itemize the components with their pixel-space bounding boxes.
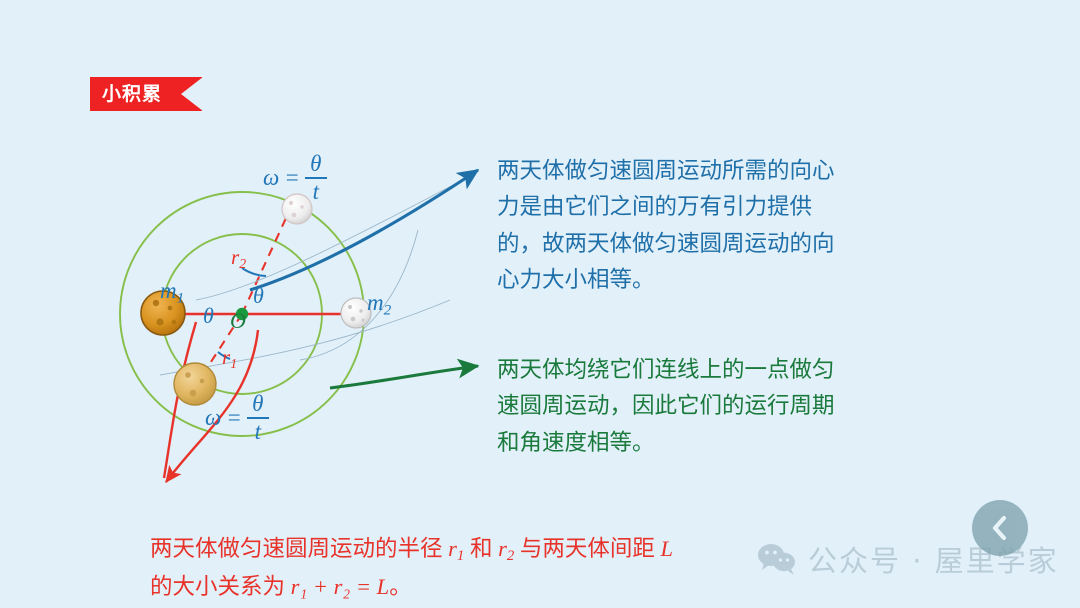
fraction-denominator: t xyxy=(313,180,319,204)
label-m1: m1 xyxy=(160,278,184,307)
fraction-numerator: θ xyxy=(252,392,263,416)
red-line1-and: 和 xyxy=(464,536,498,561)
omega-symbol: ω xyxy=(205,405,221,431)
red-r1: r xyxy=(448,536,457,561)
label-r1: r1 xyxy=(222,345,237,372)
formula-omega-top: ω = θ t xyxy=(263,152,327,204)
annotation-green-text: 两天体均绕它们连线上的一点做匀速圆周运动，因此它们的运行周期和角速度相等。 xyxy=(497,352,847,461)
red-L: L xyxy=(661,536,674,561)
fraction-denominator: t xyxy=(255,420,261,444)
slide-canvas: 小积累 xyxy=(0,0,1080,608)
label-theta-lower: θ xyxy=(203,303,214,329)
red-r2: r xyxy=(498,536,507,561)
chevron-left-icon xyxy=(987,514,1013,542)
label-r2: r2 xyxy=(231,245,246,272)
label-center-o: O xyxy=(230,308,246,334)
label-m2: m2 xyxy=(367,290,391,319)
prev-slide-button[interactable] xyxy=(972,500,1028,556)
wechat-icon xyxy=(757,542,797,576)
omega-symbol: ω xyxy=(263,165,279,191)
label-theta-upper: θ xyxy=(253,283,264,309)
formula-omega-bottom: ω = θ t xyxy=(205,392,269,444)
red-line1-mid: 与两天体间距 xyxy=(514,536,660,561)
pointer-arrow-green xyxy=(330,366,478,388)
fraction-numerator: θ xyxy=(310,152,321,176)
red-equation: r₁ + r₂ = L xyxy=(291,574,390,599)
red-line1-prefix: 两天体做匀速圆周运动的半径 xyxy=(150,536,448,561)
equals-symbol: = xyxy=(226,405,242,431)
radius-line-r2 xyxy=(242,205,292,314)
red-line2-prefix: 的大小关系为 xyxy=(150,574,291,599)
red-line2-period: 。 xyxy=(389,574,412,599)
equals-symbol: = xyxy=(284,165,300,191)
annotation-blue-text: 两天体做匀速圆周运动所需的向心力是由它们之间的万有引力提供的，故两天体做匀速圆周… xyxy=(497,153,852,299)
